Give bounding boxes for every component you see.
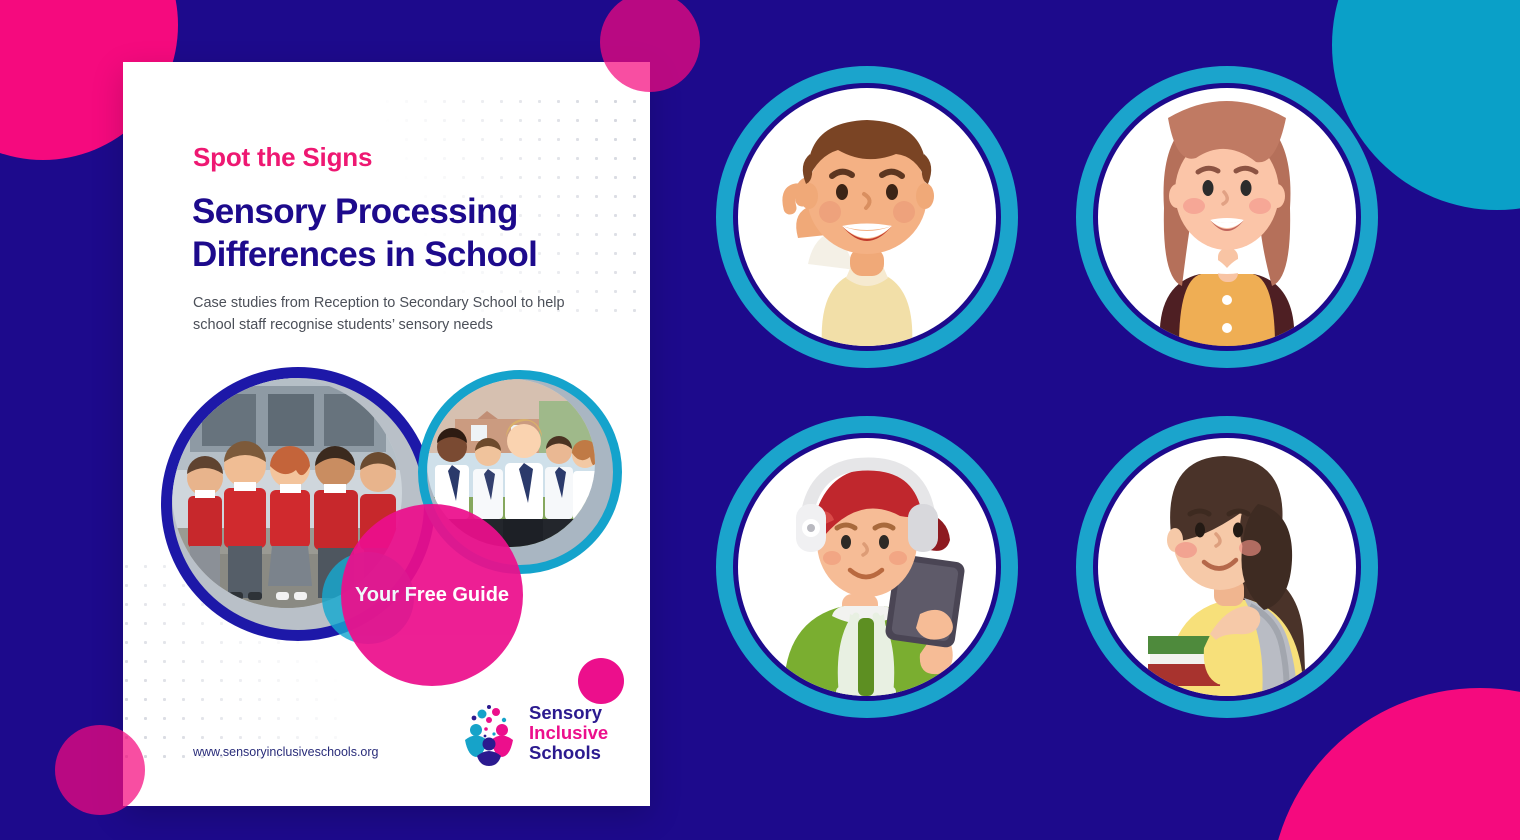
avatar-teen-boy-headphones — [716, 416, 1018, 718]
poster-canvas: Spot the Signs Sensory Processing Differ… — [0, 0, 1520, 840]
avatar-disc — [1098, 438, 1356, 696]
logo-mark-icon — [456, 700, 522, 766]
avatar-teen-girl-books — [1076, 416, 1378, 718]
free-guide-badge-label: Your Free Guide — [355, 582, 509, 609]
cover-kicker: Spot the Signs — [193, 142, 372, 173]
guide-cover-card: Spot the Signs Sensory Processing Differ… — [123, 62, 650, 806]
logo-word-sensory: Sensory — [529, 702, 602, 723]
cover-subtitle: Case studies from Reception to Secondary… — [193, 292, 593, 336]
cover-title: Sensory Processing Differences in School — [192, 190, 612, 276]
avatar-disc — [738, 438, 996, 696]
avatar-waving-boy — [716, 66, 1018, 368]
avatar-inner-ring — [733, 433, 1001, 701]
avatar-disc — [1098, 88, 1356, 346]
logo-word-schools: Schools — [529, 742, 601, 763]
avatar-inner-ring — [733, 83, 1001, 351]
pink-circle-card-top-right-decoration — [600, 0, 700, 92]
pink-circle-card-bottom-left-decoration — [55, 725, 145, 815]
free-guide-badge: Your Free Guide — [341, 504, 523, 686]
sensory-inclusive-schools-logo: Sensory Inclusive Schools — [456, 693, 621, 773]
avatar-girl-long-hair — [1076, 66, 1378, 368]
avatar-inner-ring — [1093, 83, 1361, 351]
website-url: www.sensoryinclusiveschools.org — [193, 745, 379, 759]
avatar-disc — [738, 88, 996, 346]
logo-wordmark: Sensory Inclusive Schools — [529, 703, 608, 763]
avatar-inner-ring — [1093, 433, 1361, 701]
logo-word-inclusive: Inclusive — [529, 722, 608, 743]
pink-circle-bottom-right-decoration — [1270, 688, 1520, 840]
